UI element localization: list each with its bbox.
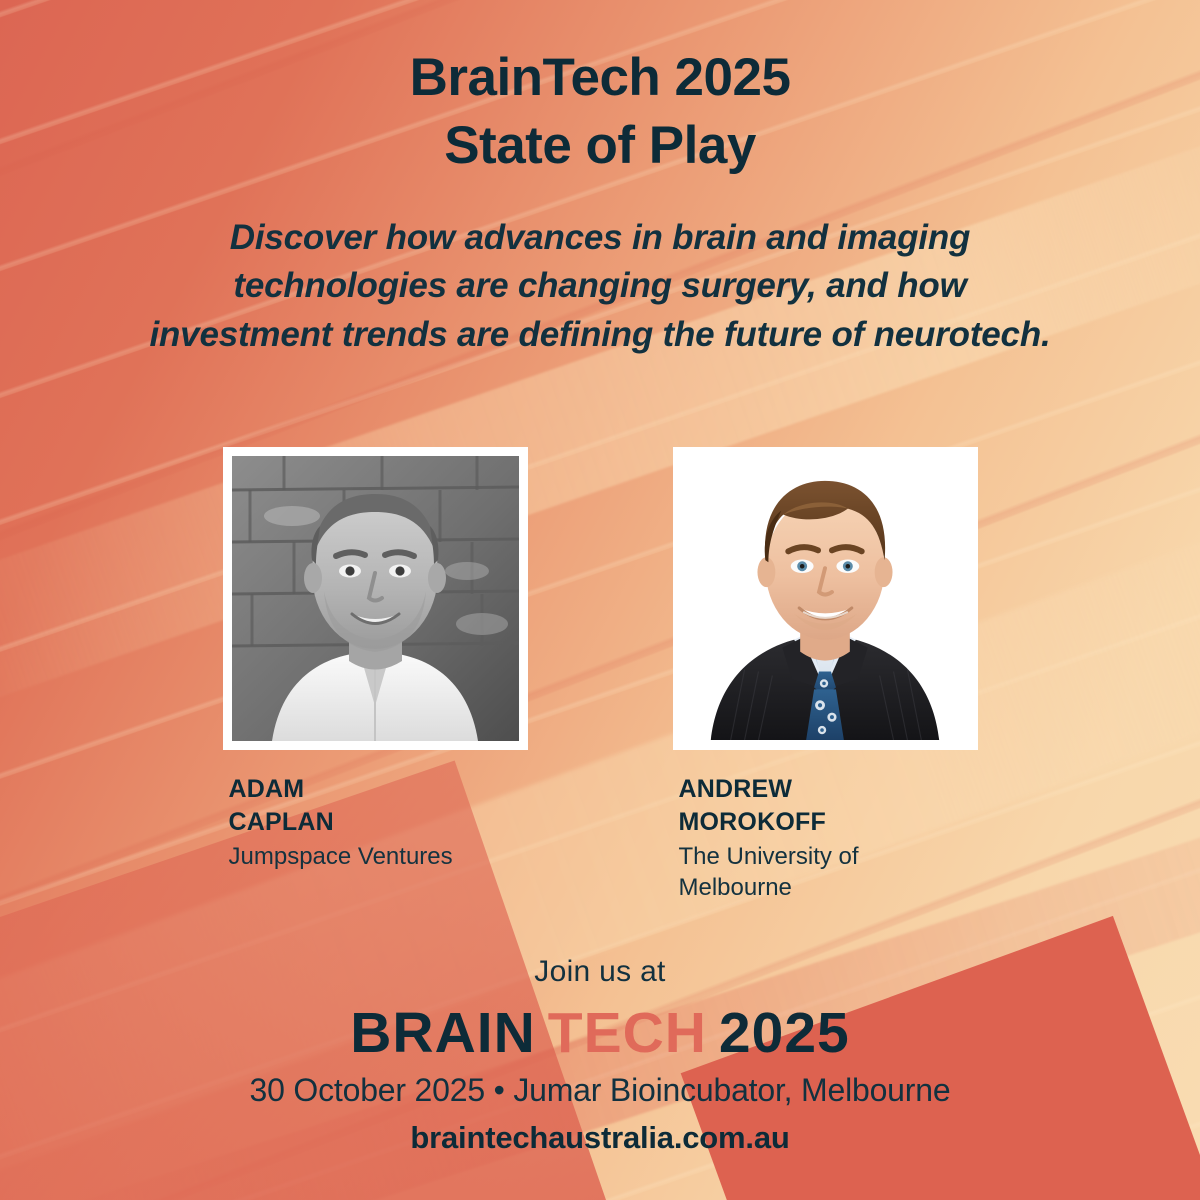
subtitle-line-1: Discover how advances in brain and imagi… <box>48 214 1152 262</box>
logo-word-year: 2025 <box>719 1001 850 1065</box>
speaker-name-line-1: ANDREW <box>679 773 978 806</box>
speaker-name: ADAM CAPLAN <box>229 773 528 839</box>
subtitle-line-2: technologies are changing surgery, and h… <box>48 262 1152 310</box>
speaker-card: ADAM CAPLAN Jumpspace Ventures <box>223 447 528 903</box>
poster-subtitle: Discover how advances in brain and imagi… <box>48 214 1152 359</box>
speaker-meta: ADAM CAPLAN Jumpspace Ventures <box>223 773 528 872</box>
speaker-photo-adam-caplan <box>232 456 519 741</box>
poster-title: BrainTech 2025 State of Play <box>0 44 1200 180</box>
event-date-venue: 30 October 2025 • Jumar Bioincubator, Me… <box>0 1072 1200 1109</box>
speaker-org-line-1: The University of <box>679 841 978 872</box>
logo-word-brain: BRAIN <box>350 1001 536 1065</box>
speaker-name-line-2: CAPLAN <box>229 806 528 839</box>
braintech-logo: BRAINTECH2025 <box>0 1005 1200 1062</box>
speaker-card: ANDREW MOROKOFF The University of Melbou… <box>673 447 978 903</box>
headshot-grayscale-illustration <box>232 456 519 741</box>
headshot-color-illustration <box>683 457 968 740</box>
speaker-org-line-1: Jumpspace Ventures <box>229 841 528 872</box>
speaker-organisation: The University of Melbourne <box>679 841 978 903</box>
speaker-photo-frame <box>223 447 528 750</box>
logo-word-tech: TECH <box>548 1001 707 1065</box>
speaker-name-line-1: ADAM <box>229 773 528 806</box>
subtitle-line-3: investment trends are defining the futur… <box>48 311 1152 359</box>
speaker-org-line-2: Melbourne <box>679 872 978 903</box>
speaker-name: ANDREW MOROKOFF <box>679 773 978 839</box>
speaker-photo-andrew-morokoff <box>683 457 968 740</box>
title-line-2: State of Play <box>0 112 1200 180</box>
event-website[interactable]: braintechaustralia.com.au <box>0 1120 1200 1156</box>
speaker-organisation: Jumpspace Ventures <box>229 841 528 872</box>
join-us-label: Join us at <box>0 955 1200 989</box>
title-line-1: BrainTech 2025 <box>0 44 1200 112</box>
speaker-meta: ANDREW MOROKOFF The University of Melbou… <box>673 773 978 903</box>
speaker-list: ADAM CAPLAN Jumpspace Ventures <box>0 447 1200 903</box>
speaker-photo-frame <box>673 447 978 750</box>
speaker-name-line-2: MOROKOFF <box>679 806 978 839</box>
event-poster: BrainTech 2025 State of Play Discover ho… <box>0 0 1200 1200</box>
